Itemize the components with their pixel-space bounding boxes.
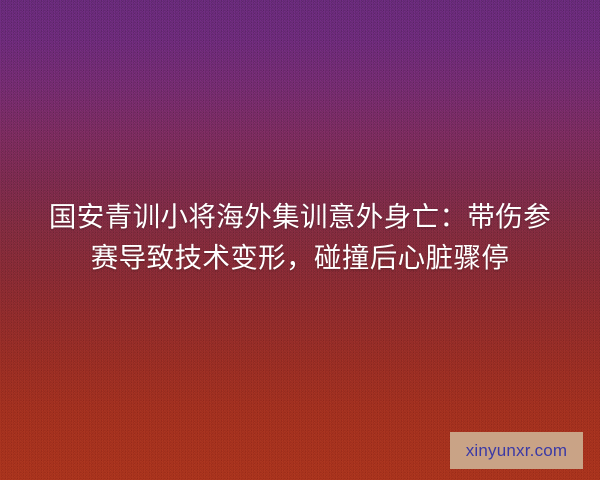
watermark-badge: xinyunxr.com xyxy=(450,432,583,469)
news-headline-card: 国安青训小将海外集训意外身亡：带伤参 赛导致技术变形，碰撞后心脏骤停 xinyu… xyxy=(0,0,600,480)
headline-text: 国安青训小将海外集训意外身亡：带伤参 赛导致技术变形，碰撞后心脏骤停 xyxy=(0,196,600,278)
watermark-label: xinyunxr.com xyxy=(466,442,568,459)
